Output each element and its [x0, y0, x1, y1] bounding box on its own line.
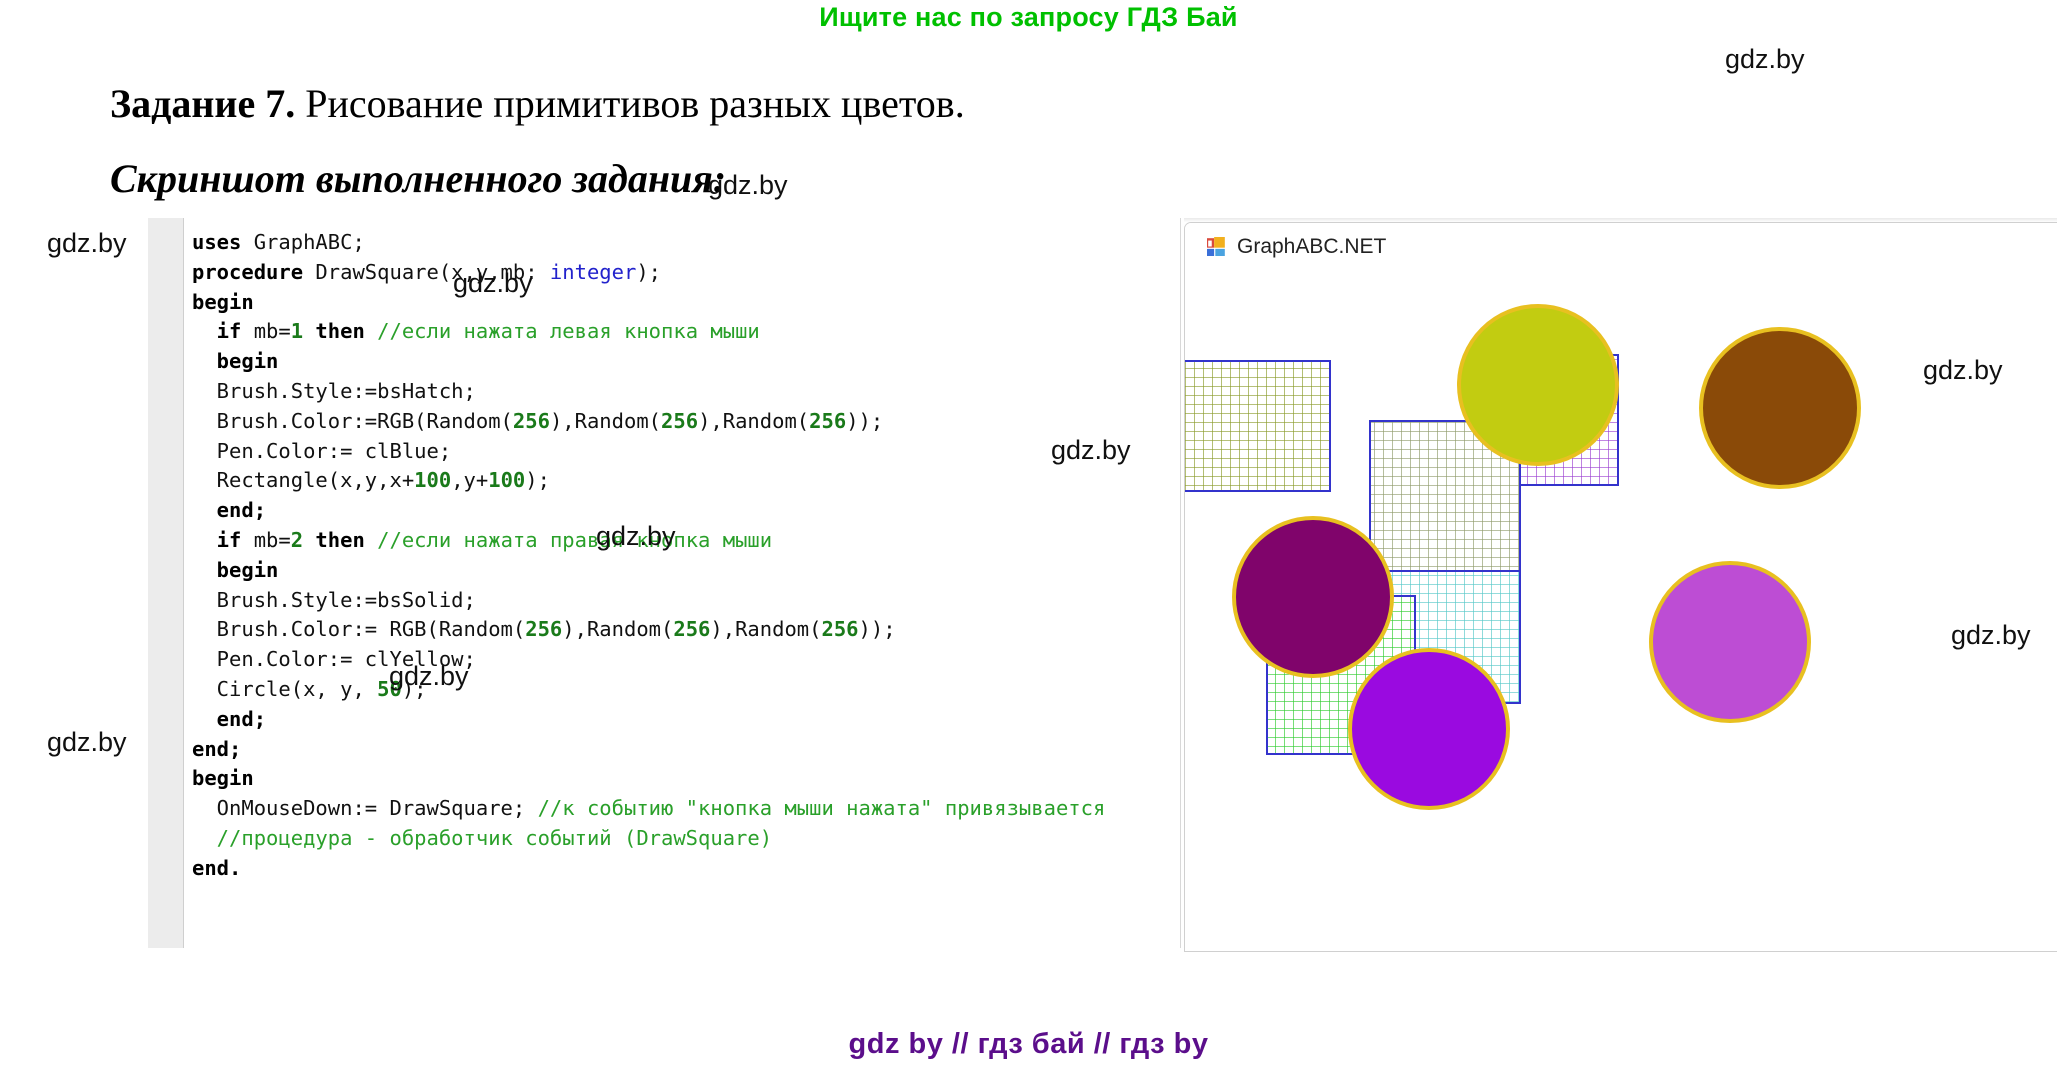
code-line: end; — [192, 735, 1192, 765]
watermark: gdz.by — [708, 170, 788, 201]
watermark: gdz.by — [1725, 44, 1805, 75]
watermark: gdz.by — [47, 228, 127, 259]
code-line: Pen.Color:= clBlue; — [192, 437, 1192, 467]
code-line: Rectangle(x,y,x+100,y+100); — [192, 466, 1192, 496]
footer-text: gdz by // гдз бай // гдз by — [0, 1028, 2057, 1061]
code-line: procedure DrawSquare(x,y,mb: integer); — [192, 258, 1192, 288]
code-line: begin — [192, 556, 1192, 586]
watermark: gdz.by — [1923, 355, 2003, 386]
code-line: Brush.Color:=RGB(Random(256),Random(256)… — [192, 407, 1192, 437]
code-line: begin — [192, 288, 1192, 318]
graphabc-window: GraphABC.NET — [1184, 222, 2057, 952]
circle-orchid — [1651, 563, 1809, 721]
hatched-square-olive — [1185, 361, 1330, 491]
circle-violet — [1350, 650, 1508, 808]
window-titlebar: GraphABC.NET — [1185, 223, 2057, 269]
code-line: Circle(x, y, 50); — [192, 675, 1192, 705]
window-title: GraphABC.NET — [1237, 235, 1386, 259]
code-line: Brush.Style:=bsHatch; — [192, 377, 1192, 407]
code-line: end; — [192, 705, 1192, 735]
code-line: Pen.Color:= clYellow; — [192, 645, 1192, 675]
page-title: Задание 7. Рисование примитивов разных ц… — [110, 80, 1510, 127]
code-line: OnMouseDown:= DrawSquare; //к событию "к… — [192, 794, 1192, 824]
code-line: Brush.Style:=bsSolid; — [192, 586, 1192, 616]
code-line: Brush.Color:= RGB(Random(256),Random(256… — [192, 615, 1192, 645]
code-line: if mb=2 then //если нажата правая кнопка… — [192, 526, 1192, 556]
code-gutter — [148, 218, 184, 948]
promo-banner: Ищите нас по запросу ГДЗ Бай — [0, 0, 2057, 34]
watermark: gdz.by — [1951, 620, 2031, 651]
circle-yellow-green — [1459, 306, 1617, 464]
watermark: gdz.by — [1051, 435, 1131, 466]
circle-brown — [1701, 329, 1859, 487]
code-line: //процедура - обработчик событий (DrawSq… — [192, 824, 1192, 854]
source-code-block[interactable]: uses GraphABC;procedure DrawSquare(x,y,m… — [192, 228, 1192, 884]
watermark: gdz.by — [596, 521, 676, 552]
code-line: if mb=1 then //если нажата левая кнопка … — [192, 317, 1192, 347]
watermark: gdz.by — [453, 268, 533, 299]
task-description-label: Рисование примитивов разных цветов. — [295, 81, 965, 126]
code-line: end. — [192, 854, 1192, 884]
watermark: gdz.by — [47, 727, 127, 758]
code-line: uses GraphABC; — [192, 228, 1192, 258]
code-line: begin — [192, 764, 1192, 794]
watermark: gdz.by — [389, 661, 469, 692]
code-line: end; — [192, 496, 1192, 526]
circle-dark-magenta — [1234, 518, 1392, 676]
code-line: begin — [192, 347, 1192, 377]
graphabc-app-icon — [1207, 237, 1226, 256]
task-number-label: Задание 7. — [110, 81, 295, 126]
